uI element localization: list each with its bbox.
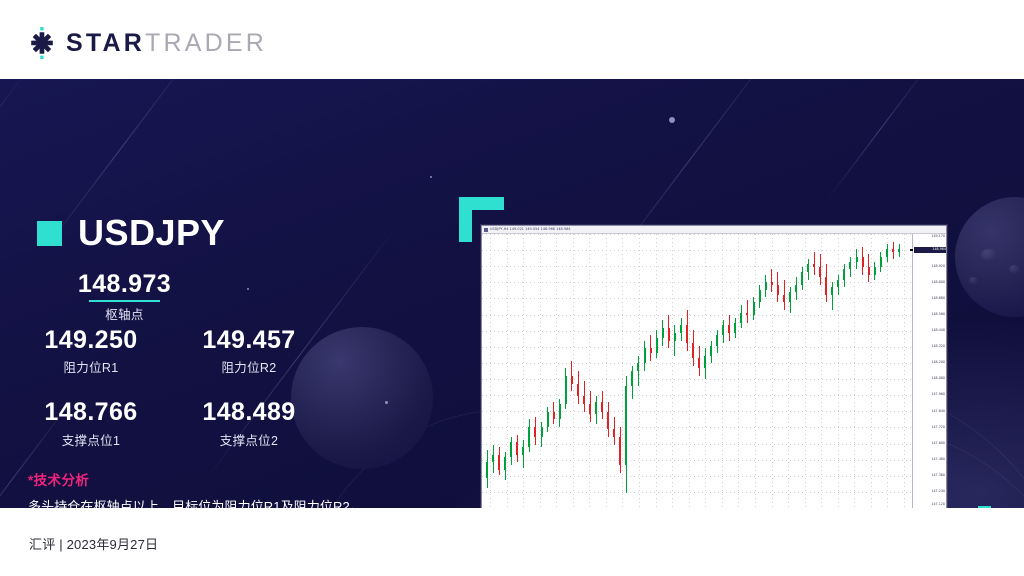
price-tick-label: 147.240: [915, 489, 946, 494]
price-tick-label: 148.200: [915, 360, 946, 365]
chart-plot-area[interactable]: [482, 234, 912, 508]
level-s2-label: 支撑点位2: [196, 430, 302, 449]
analysis-title: *技术分析: [28, 469, 403, 489]
price-tick-label: 147.360: [915, 473, 946, 478]
decor-crater: [969, 277, 978, 284]
decor-star: [430, 176, 432, 178]
price-tick-label: 147.120: [915, 502, 946, 507]
price-tick-label: 148.440: [915, 328, 946, 333]
decor-star: [669, 117, 675, 123]
main-stage: USDJPY 148.973 枢轴点 149.250 阻力位R1 149.457…: [0, 79, 1024, 508]
current-price-marker: [910, 249, 913, 252]
footer-caption: 汇评 | 2023年9月27日: [29, 534, 158, 553]
price-tick-label: 147.840: [915, 409, 946, 414]
pivot-label: 枢轴点: [52, 304, 197, 323]
page-footer: 汇评 | 2023年9月27日: [0, 508, 1024, 576]
decor-planet-large: [291, 327, 433, 469]
instrument-marker-square: [37, 221, 62, 246]
candlestick-series: [482, 234, 912, 508]
level-r1-value: 149.250: [38, 327, 144, 353]
analysis-section: *技术分析 多头持仓在枢轴点以上，目标位为阻力位R1及阻力位R2。 若低于枢轴点…: [28, 469, 403, 508]
level-s2: 148.489 支撑点位2: [196, 399, 302, 448]
price-tick-label: 149.170: [915, 234, 946, 239]
pivot-block: 148.973 枢轴点: [52, 271, 197, 323]
decor-crater: [981, 249, 997, 260]
page-title: USDJPY: [78, 215, 225, 251]
asterisk-star-icon: [27, 27, 57, 59]
decor-crater: [1009, 265, 1020, 273]
levels-grid: 149.250 阻力位R1 149.457 阻力位R2 148.766 支撑点位…: [38, 327, 302, 449]
level-s1-value: 148.766: [38, 399, 144, 425]
level-r2-label: 阻力位R2: [196, 357, 302, 376]
chart-titlebar: USDJPY,H4 149.021 149.054 148.966 148.98…: [482, 226, 946, 234]
price-tick-label: 148.320: [915, 344, 946, 349]
page-header: STARTRADER: [0, 0, 1024, 79]
decor-star: [247, 288, 249, 290]
brand-name-trader: TRADER: [145, 29, 267, 57]
level-s2-value: 148.489: [196, 399, 302, 425]
chart-window-icon: [484, 228, 488, 232]
price-tick-label: 147.960: [915, 392, 946, 397]
analysis-line-1: 多头持仓在枢轴点以上，目标位为阻力位R1及阻力位R2。: [28, 496, 403, 508]
analysis-body: 多头持仓在枢轴点以上，目标位为阻力位R1及阻力位R2。 若低于枢轴点，则可能下跌…: [28, 496, 403, 508]
price-tick-label: 147.600: [915, 441, 946, 446]
pivot-underline: [89, 300, 160, 302]
price-tick-label: 148.680: [915, 296, 946, 301]
level-s1-label: 支撑点位1: [38, 430, 144, 449]
level-r2: 149.457 阻力位R2: [196, 327, 302, 376]
current-price-label: 148.984: [914, 247, 947, 253]
decor-star: [385, 401, 388, 404]
price-tick-label: 147.720: [915, 425, 946, 430]
instrument-header: USDJPY: [37, 215, 225, 251]
price-tick-label: 148.080: [915, 376, 946, 381]
price-tick-label: 148.800: [915, 280, 946, 285]
pivot-value: 148.973: [52, 271, 197, 297]
price-tick-label: 148.560: [915, 312, 946, 317]
level-r2-value: 149.457: [196, 327, 302, 353]
chart-title: USDJPY,H4 149.021 149.054 148.966 148.98…: [490, 228, 571, 231]
level-r1-label: 阻力位R1: [38, 357, 144, 376]
level-s1: 148.766 支撑点位1: [38, 399, 144, 448]
level-r1: 149.250 阻力位R1: [38, 327, 144, 376]
price-tick-label: 148.920: [915, 264, 946, 269]
brand-wordmark: STARTRADER: [66, 31, 267, 56]
price-axis: 149.170148.984148.920148.800148.680148.5…: [912, 234, 947, 508]
mt4-chart-window[interactable]: USDJPY,H4 149.021 149.054 148.966 148.98…: [481, 225, 947, 508]
brand-name-star: STAR: [66, 29, 145, 57]
price-tick-label: 147.480: [915, 457, 946, 462]
brand-logo: STARTRADER: [27, 27, 267, 59]
